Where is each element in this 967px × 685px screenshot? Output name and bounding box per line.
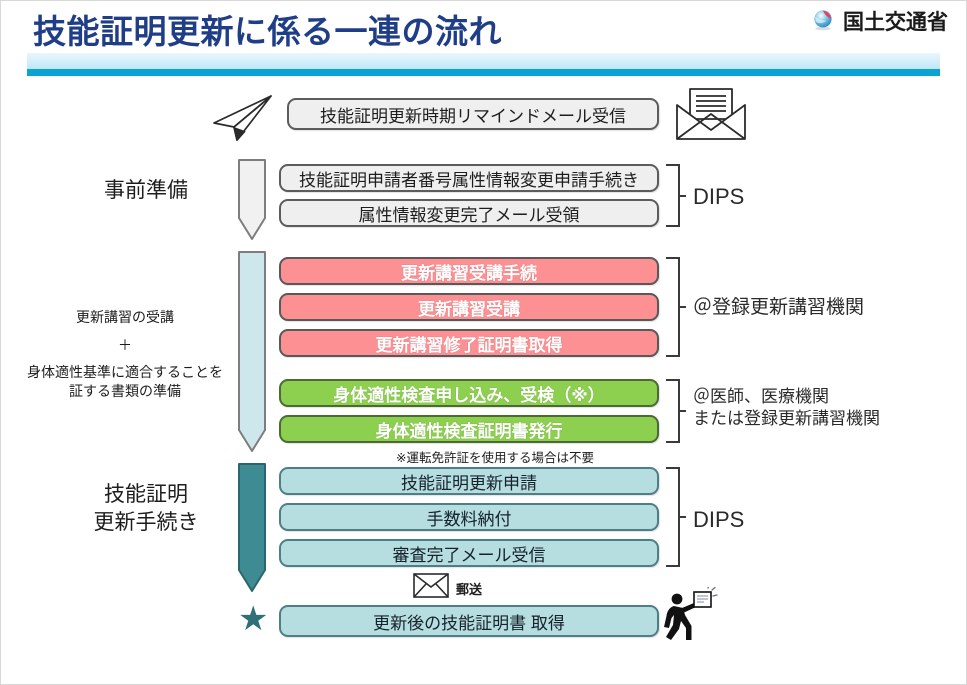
arrow-lightblue <box>237 250 267 459</box>
slide-root: 技能証明更新に係る一連の流れ 国土交通省 <box>0 0 967 685</box>
step-training-certificate[interactable]: 更新講習修了証明書取得 <box>279 329 659 357</box>
stage-label-training-line1: 更新講習の受講 <box>11 308 239 327</box>
stage-label-training-plus: ＋ <box>11 336 239 355</box>
step-fee-payment[interactable]: 手数料納付 <box>279 503 659 531</box>
right-label-dips-preparation: DIPS <box>693 183 744 212</box>
stage-label-training-line4: 証する書類の準備 <box>11 382 239 401</box>
step-attribute-change-complete-mail[interactable]: 属性情報変更完了メール受領 <box>279 199 659 227</box>
step-review-complete-mail[interactable]: 審査完了メール受信 <box>279 539 659 567</box>
bracket-renewal <box>666 467 680 567</box>
step-renewal-application[interactable]: 技能証明更新申請 <box>279 467 659 495</box>
step-training-application[interactable]: 更新講習受講手続 <box>279 257 659 285</box>
bracket-medical <box>666 379 680 443</box>
header-accent-rule <box>27 69 940 76</box>
page-title: 技能証明更新に係る一連の流れ <box>33 5 502 53</box>
bracket-training <box>666 257 680 357</box>
stage-label-renewal: 技能証明 更新手続き <box>61 481 231 538</box>
stage-label-training-line3: 身体適性基準に適合することを <box>11 363 239 382</box>
stage-label-training: 更新講習の受講 ＋ 身体適性基準に適合することを 証する書類の準備 <box>11 308 239 401</box>
postal-label: 郵送 <box>456 579 482 598</box>
postal-delivery: 郵送 <box>413 573 482 603</box>
open-envelope-icon <box>673 85 749 148</box>
ministry-name: 国土交通省 <box>843 6 948 36</box>
step-attribute-change-application[interactable]: 技能証明申請者番号属性情報変更申請手続き <box>279 164 659 192</box>
closed-envelope-icon <box>413 573 449 603</box>
right-label-training-organization: ＠登録更新講習機関 <box>693 296 864 321</box>
step-reminder-mail[interactable]: 技能証明更新時期リマインドメール受信 <box>287 98 659 130</box>
stage-label-preparation: 事前準備 <box>61 177 231 205</box>
ministry-logo: 国土交通省 <box>810 6 948 36</box>
paper-plane-icon <box>209 93 275 148</box>
stage-label-renewal-line2: 更新手続き <box>61 509 231 537</box>
star-icon: ★ <box>238 602 268 636</box>
footnote-drivers-license: ※運転免許証を使用する場合は不要 <box>396 447 594 466</box>
header-gradient-band <box>27 53 940 69</box>
mlit-globe-logo-icon <box>810 8 836 34</box>
step-medical-exam-application[interactable]: 身体適性検査申し込み、受検（※） <box>279 379 659 407</box>
running-person-with-certificate-icon <box>661 587 721 650</box>
step-final-certificate[interactable]: 更新後の技能証明書 取得 <box>279 605 659 637</box>
right-label-dips-renewal: DIPS <box>693 506 744 535</box>
step-medical-exam-certificate[interactable]: 身体適性検査証明書発行 <box>279 415 659 443</box>
arrow-darkteal <box>237 462 267 599</box>
bracket-preparation <box>666 164 680 227</box>
right-label-medical-institution: ＠医師、医療機関 または登録更新講習機関 <box>693 386 880 430</box>
step-training-attendance[interactable]: 更新講習受講 <box>279 293 659 321</box>
arrow-gray <box>237 158 267 247</box>
stage-label-renewal-line1: 技能証明 <box>61 481 231 509</box>
